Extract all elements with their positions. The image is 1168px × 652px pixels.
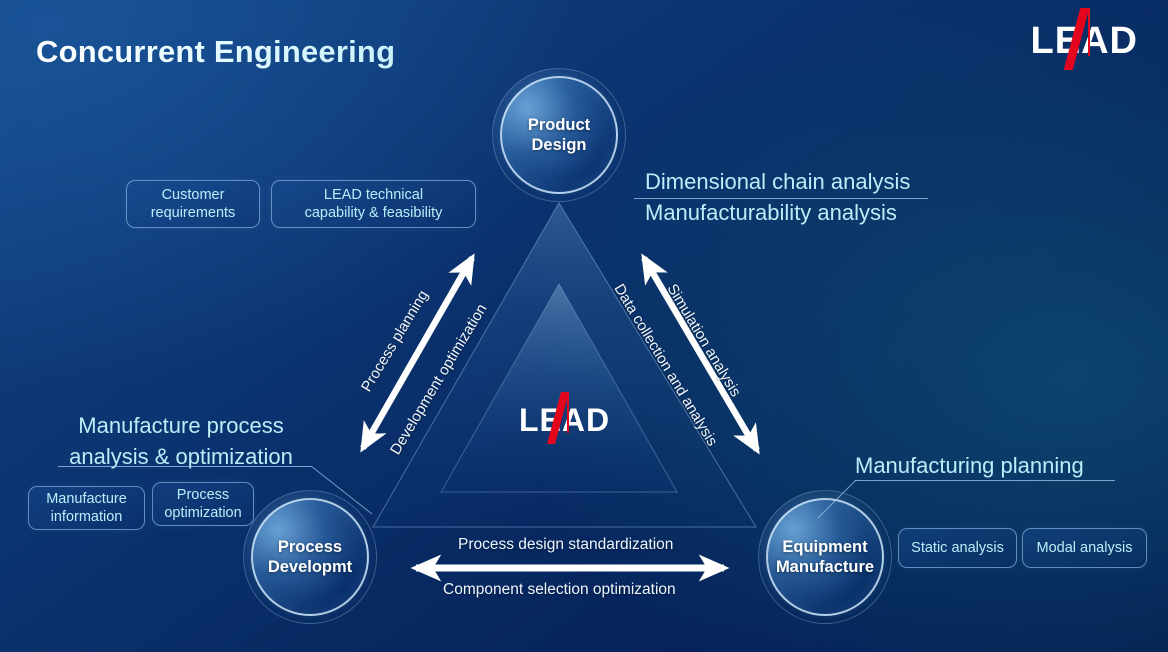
pill-lead-technical-capability-text: LEAD technical capability & feasibility xyxy=(305,186,443,223)
node-product-design-line2: Design xyxy=(531,136,586,154)
leader-line-bottom-right xyxy=(855,480,1115,481)
pill-static-analysis[interactable]: Static analysis xyxy=(898,528,1017,568)
arrow-label-component-selection-optimization: Component selection optimization xyxy=(443,581,676,599)
annotation-manufacturing-planning: Manufacturing planning xyxy=(855,450,1084,481)
arrow-label-process-design-standardization: Process design standardization xyxy=(458,536,673,554)
node-product-design-line1: Product xyxy=(528,116,590,134)
leader-line-top-right xyxy=(634,198,928,199)
pill-customer-requirements-line2: requirements xyxy=(151,205,236,221)
annotation-manufacture-process-line2: analysis & optimization xyxy=(50,441,312,472)
arrow-bottom-horizontal xyxy=(400,552,740,584)
pill-lead-technical-capability-line2: capability & feasibility xyxy=(305,205,443,221)
pill-lead-technical-capability-line1: LEAD technical xyxy=(324,187,423,203)
leader-line-left xyxy=(58,466,311,467)
node-product-design[interactable]: Product Design xyxy=(500,76,618,194)
node-process-development-line2: Developmt xyxy=(268,558,352,576)
annotation-left: Manufacture process analysis & optimizat… xyxy=(50,410,312,472)
pill-customer-requirements[interactable]: Customer requirements xyxy=(126,180,260,228)
annotation-manufacture-process-line1: Manufacture process xyxy=(50,410,312,441)
node-equipment-manufacture-line1: Equipment xyxy=(782,538,867,556)
node-product-design-label: Product Design xyxy=(522,115,596,155)
node-process-development-label: Process Developmt xyxy=(262,537,358,577)
pill-process-optimization-line1: Process xyxy=(177,487,229,503)
pill-customer-requirements-line1: Customer xyxy=(162,187,225,203)
node-process-development-line1: Process xyxy=(278,538,342,556)
pill-manufacture-information-text: Manufacture information xyxy=(46,490,127,527)
pill-manufacture-information[interactable]: Manufacture information xyxy=(28,486,145,530)
annotation-manufacturability-analysis: Manufacturability analysis xyxy=(645,197,910,228)
arrow-label-data-collection-and-analysis: Data collection and analysis xyxy=(610,281,720,449)
lead-logo-center-hairline-icon xyxy=(567,392,569,433)
pill-process-optimization-line2: optimization xyxy=(164,505,241,521)
pill-modal-analysis[interactable]: Modal analysis xyxy=(1022,528,1147,568)
pill-process-optimization-text: Process optimization xyxy=(164,486,241,523)
slide-canvas: Concurrent Engineering LEAD LEAD xyxy=(0,0,1168,652)
lead-logo-corner-hairline-icon xyxy=(1088,8,1090,56)
pill-manufacture-information-line1: Manufacture xyxy=(46,491,127,507)
page-title: Concurrent Engineering xyxy=(36,34,395,70)
pill-process-optimization[interactable]: Process optimization xyxy=(152,482,254,526)
lead-logo-corner-icon: LEAD xyxy=(1031,22,1138,60)
arrow-label-process-planning: Process planning xyxy=(358,287,432,394)
pill-lead-technical-capability[interactable]: LEAD technical capability & feasibility xyxy=(271,180,476,228)
node-equipment-manufacture-label: Equipment Manufacture xyxy=(770,537,880,577)
leader-line-left-diagonal xyxy=(300,462,386,518)
pill-static-analysis-text: Static analysis xyxy=(911,539,1004,557)
pill-manufacture-information-line2: information xyxy=(51,509,123,525)
lead-logo-center-icon: LEAD xyxy=(519,404,610,436)
outer-triangle xyxy=(373,203,756,527)
leader-line-bottom-right-diagonal xyxy=(806,476,866,522)
pill-customer-requirements-text: Customer requirements xyxy=(151,186,236,223)
pill-modal-analysis-text: Modal analysis xyxy=(1037,539,1133,557)
annotation-dimensional-chain-analysis: Dimensional chain analysis xyxy=(645,166,910,197)
node-equipment-manufacture-line2: Manufacture xyxy=(776,558,874,576)
